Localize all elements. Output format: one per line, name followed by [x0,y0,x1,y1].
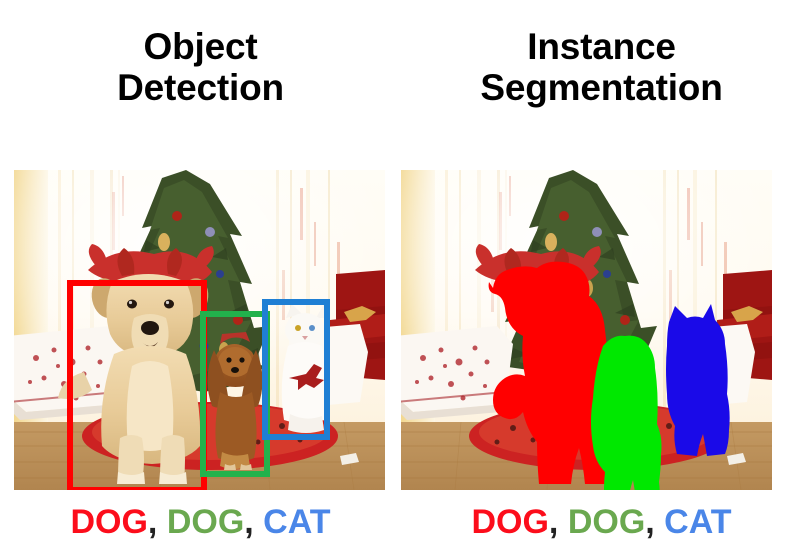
panel-title-instance-segmentation: Instance Segmentation [401,26,802,109]
title-line-2: Segmentation [401,67,802,108]
caption-separator-2: , [244,503,263,541]
cat-white [282,304,329,433]
mask-cat-blue [666,304,730,456]
panel-title-object-detection: Object Detection [0,26,401,109]
caption-separator-1: , [148,503,167,541]
caption-label-dog-1: DOG [471,503,548,541]
caption-instance-segmentation: DOG, DOG, CAT [401,505,802,539]
caption-label-cat: CAT [664,503,731,541]
caption-object-detection: DOG, DOG, CAT [0,505,401,539]
photo-instance-segmentation [401,170,772,490]
mask-dog-green [591,336,662,490]
caption-label-cat: CAT [263,503,330,541]
caption-label-dog-2: DOG [568,503,645,541]
caption-separator-1: , [549,503,568,541]
title-line-1: Instance [401,26,802,67]
panel-object-detection: Object Detection [0,0,401,556]
title-line-2: Detection [0,67,401,108]
caption-label-dog-2: DOG [167,503,244,541]
detection-scene-svg [14,170,385,490]
panel-instance-segmentation: Instance Segmentation [401,0,802,556]
caption-separator-2: , [645,503,664,541]
comparison-figure: Object Detection [0,0,802,556]
segmentation-scene-svg [401,170,772,490]
caption-label-dog-1: DOG [70,503,147,541]
photo-object-detection [14,170,385,490]
title-line-1: Object [0,26,401,67]
